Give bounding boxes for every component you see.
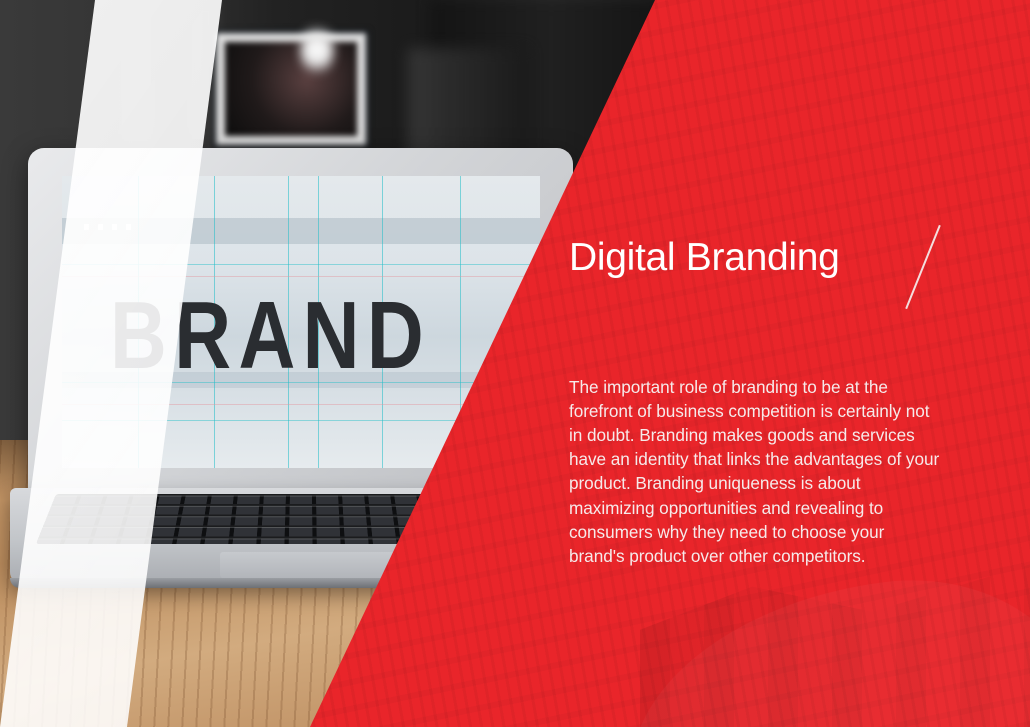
screen-guide-line bbox=[62, 276, 540, 277]
wall-picture-image bbox=[225, 42, 357, 136]
slide-content: Digital Branding The important role of b… bbox=[569, 236, 969, 568]
screen-brand-word: BRAND bbox=[110, 288, 431, 384]
laptop-trackpad bbox=[220, 552, 396, 578]
slide-title: Digital Branding bbox=[569, 236, 969, 280]
screen-toolbar-band bbox=[62, 218, 540, 244]
screen-guide-line bbox=[62, 264, 540, 265]
slide-canvas: BRAND Digital Branding T bbox=[0, 0, 1030, 727]
screen-window-dots-icon bbox=[84, 224, 136, 230]
slide-body-text: The important role of branding to be at … bbox=[569, 375, 941, 569]
wall-picture-frame bbox=[213, 30, 369, 148]
backdrop-lamp-glow bbox=[300, 22, 334, 78]
